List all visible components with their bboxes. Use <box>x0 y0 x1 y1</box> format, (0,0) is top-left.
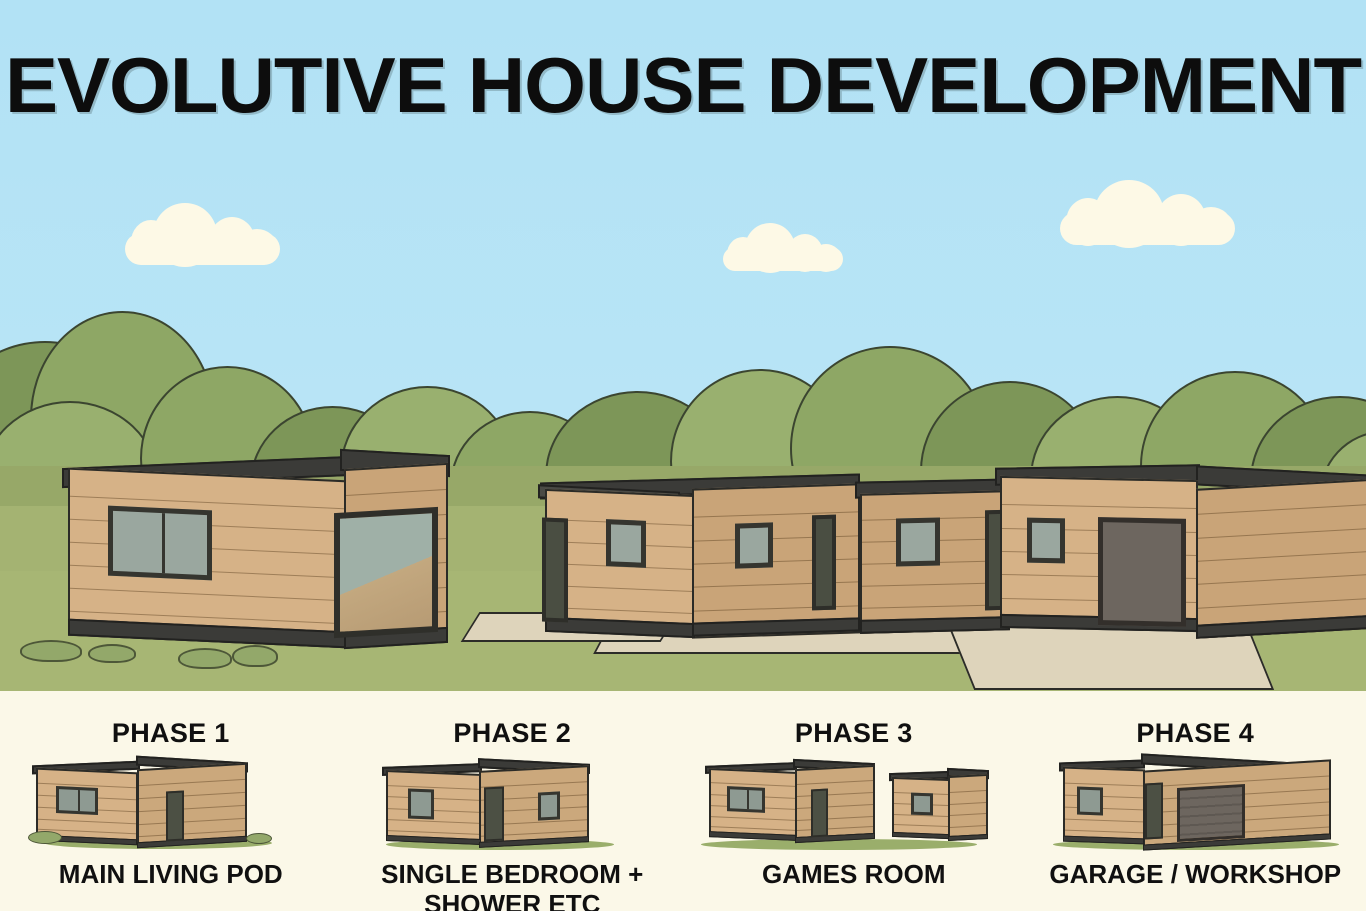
thumb-door-2 <box>484 786 504 841</box>
phase-caption-1: MAIN LIVING POD <box>59 859 283 889</box>
phase-card-4[interactable]: PHASE 4 <box>1025 691 1366 911</box>
door-bedroom-left <box>542 517 568 622</box>
door-bedroom-side <box>812 515 836 611</box>
phase-title-2: PHASE 2 <box>453 718 571 749</box>
phase-caption-4: GARAGE / WORKSHOP <box>1049 859 1341 889</box>
phase-title-1: PHASE 1 <box>112 718 230 749</box>
thumb-window-3b <box>911 793 933 816</box>
poster-root: EVOLUTIVE HOUSE DEVELOPMENT <box>0 0 1366 911</box>
thumb-door-1 <box>166 790 184 841</box>
garage-door <box>1098 517 1186 627</box>
phase-card-2[interactable]: PHASE 2 <box>342 691 684 911</box>
phase-caption-4-line1: GARAGE / WORKSHOP <box>1049 859 1341 889</box>
phase-title-3: PHASE 3 <box>795 718 913 749</box>
cloud-center <box>723 247 843 271</box>
phase-caption-3-line1: GAMES ROOM <box>762 859 945 889</box>
phases-panel: PHASE 1 <box>0 691 1366 911</box>
phase-title-4: PHASE 4 <box>1136 718 1254 749</box>
poster-title-wrap: EVOLUTIVE HOUSE DEVELOPMENT <box>0 46 1366 124</box>
thumb-garage-door-4 <box>1177 784 1245 842</box>
window-bedroom <box>606 519 646 568</box>
phase-card-3[interactable]: PHASE 3 <box>683 691 1025 911</box>
page-title: EVOLUTIVE HOUSE DEVELOPMENT <box>0 46 1366 124</box>
thumb-window-2b <box>538 791 560 820</box>
thumb-door-4 <box>1145 782 1163 839</box>
phase-thumbnail-2 <box>342 759 684 854</box>
phase-caption-1-line1: MAIN LIVING POD <box>59 859 283 889</box>
thumb-window-3a <box>727 786 765 813</box>
phase-caption-2-line1: SINGLE BEDROOM + <box>381 859 643 889</box>
phase-caption-2-line2: SHOWER ETC <box>381 889 643 911</box>
phase-card-1[interactable]: PHASE 1 <box>0 691 342 911</box>
thumb-window-2a <box>408 788 434 819</box>
window-main-pod <box>108 506 212 581</box>
cloud-right <box>1060 212 1235 245</box>
illustration-scene: EVOLUTIVE HOUSE DEVELOPMENT <box>0 0 1366 691</box>
window-bedroom-side <box>735 522 773 568</box>
window-games-room <box>896 517 940 566</box>
window-garage <box>1027 518 1065 564</box>
phase-caption-3: GAMES ROOM <box>762 859 945 889</box>
thumb-window-1 <box>56 786 98 815</box>
phase-thumbnail-1 <box>0 759 342 854</box>
phase-thumbnail-4 <box>1025 759 1366 854</box>
cloud-left <box>125 233 280 265</box>
thumb-window-4 <box>1077 787 1103 816</box>
sliding-glass-door <box>334 507 438 638</box>
phase-thumbnail-3 <box>683 759 1025 854</box>
phase-caption-2: SINGLE BEDROOM + SHOWER ETC <box>381 859 643 911</box>
thumb-door-3 <box>811 789 828 838</box>
